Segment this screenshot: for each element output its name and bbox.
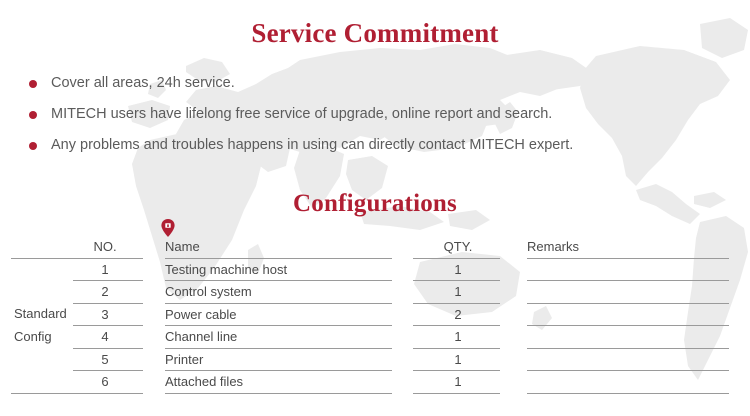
rule: [527, 393, 729, 394]
configurations-table: Standard Config NO. 1 2 3: [0, 236, 750, 416]
table-cell-name: Control system: [165, 281, 400, 304]
rule: [11, 393, 143, 394]
bullet-dot-icon: [29, 80, 37, 88]
column-remarks: Remarks: [527, 236, 729, 394]
list-item-text: Cover all areas, 24h service.: [51, 75, 235, 91]
column-header-qty: QTY.: [413, 236, 503, 259]
table-cell-remarks: [527, 371, 729, 394]
table-cell-qty: 1: [413, 281, 503, 304]
column-qty: QTY. 1 1 2 1: [413, 236, 503, 394]
table-cell-qty: 1: [413, 349, 503, 372]
rule: [413, 393, 500, 394]
cell-text: Power cable: [165, 307, 237, 322]
table-cell-qty: 1: [413, 371, 503, 394]
column-header-name-text: Name: [165, 239, 200, 254]
table-cell-no: 1: [0, 259, 150, 282]
configurations-title: Configurations: [0, 189, 750, 219]
cell-text: 2: [101, 284, 108, 299]
cell-text: Printer: [165, 352, 203, 367]
list-item: MITECH users have lifelong free service …: [27, 99, 727, 130]
cell-text: 1: [454, 262, 461, 277]
column-header-remarks: Remarks: [527, 236, 729, 259]
column-header-name: Name: [165, 236, 400, 259]
list-item-text: Any problems and troubles happens in usi…: [51, 137, 573, 153]
table-cell-name: Testing machine host: [165, 259, 400, 282]
cell-text: 5: [101, 352, 108, 367]
table-cell-name: Attached files: [165, 371, 400, 394]
table-cell-name: Channel line: [165, 326, 400, 349]
list-item: Any problems and troubles happens in usi…: [27, 130, 727, 161]
cell-text: 2: [454, 307, 461, 322]
table-cell-remarks: [527, 259, 729, 282]
table-cell-remarks: [527, 326, 729, 349]
bullet-dot-icon: [29, 111, 37, 119]
cell-text: Testing machine host: [165, 262, 287, 277]
table-cell-remarks: [527, 304, 729, 327]
table-cell-no: 3: [0, 304, 150, 327]
column-name: Name Testing machine host Control system…: [165, 236, 400, 394]
cell-text: 1: [454, 329, 461, 344]
content-layer: Service Commitment Cover all areas, 24h …: [0, 0, 750, 416]
table-cell-no: 4: [0, 326, 150, 349]
service-commitment-list: Cover all areas, 24h service. MITECH use…: [27, 68, 727, 161]
column-no: NO. 1 2 3 4: [0, 236, 150, 394]
cell-text: 3: [101, 307, 108, 322]
cell-text: 1: [454, 352, 461, 367]
map-pin-icon: [161, 219, 175, 237]
cell-text: 6: [101, 374, 108, 389]
page-root: Service Commitment Cover all areas, 24h …: [0, 0, 750, 416]
column-header-no: NO.: [0, 236, 150, 259]
list-item-text: MITECH users have lifelong free service …: [51, 106, 552, 122]
table-cell-qty: 2: [413, 304, 503, 327]
cell-text: Channel line: [165, 329, 237, 344]
cell-text: 1: [454, 374, 461, 389]
table-cell-remarks: [527, 349, 729, 372]
cell-text: 4: [101, 329, 108, 344]
table-cell-no: 2: [0, 281, 150, 304]
rule: [165, 393, 392, 394]
table-cell-qty: 1: [413, 259, 503, 282]
table-cell-qty: 1: [413, 326, 503, 349]
column-header-qty-text: QTY.: [444, 239, 473, 254]
table-cell-name: Power cable: [165, 304, 400, 327]
list-item: Cover all areas, 24h service.: [27, 68, 727, 99]
service-commitment-title: Service Commitment: [0, 17, 750, 49]
column-header-remarks-text: Remarks: [527, 239, 579, 254]
bullet-dot-icon: [29, 142, 37, 150]
table-cell-remarks: [527, 281, 729, 304]
cell-text: Attached files: [165, 374, 243, 389]
table-cell-no: 6: [0, 371, 150, 394]
cell-text: 1: [101, 262, 108, 277]
cell-text: Control system: [165, 284, 252, 299]
column-header-no-text: NO.: [93, 239, 116, 254]
cell-text: 1: [454, 284, 461, 299]
table-cell-no: 5: [0, 349, 150, 372]
table-cell-name: Printer: [165, 349, 400, 372]
